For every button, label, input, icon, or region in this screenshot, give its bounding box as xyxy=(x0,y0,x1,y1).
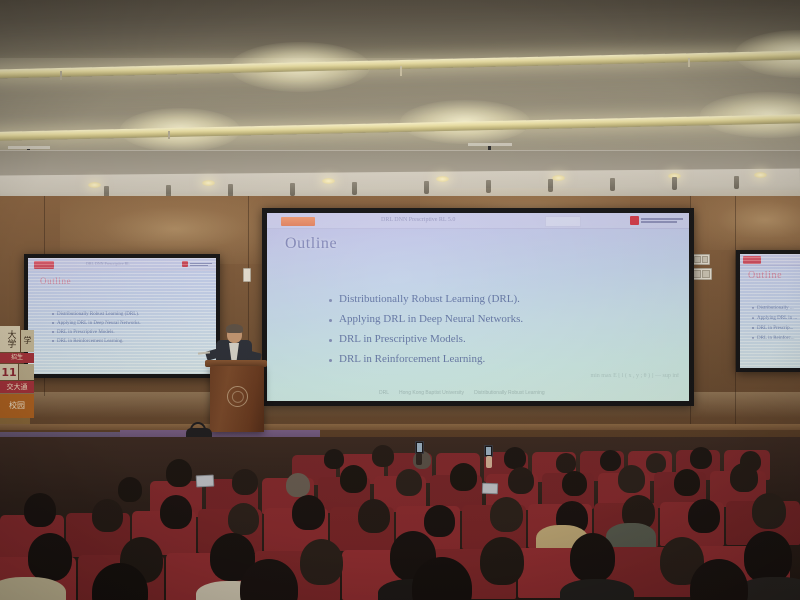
attendee-head xyxy=(300,539,343,585)
attendee-head xyxy=(600,450,621,471)
bullet-dot xyxy=(52,313,54,315)
main-slide-header-box xyxy=(545,216,581,227)
left-bullet-label: Distributionally Robust Learning (DRL). xyxy=(57,312,139,317)
right-bullet-label: Distributionally ... xyxy=(757,306,794,311)
attendee-head xyxy=(480,537,524,585)
main-slide-logo xyxy=(630,216,683,225)
main-projection-screen[interactable]: DRL DNN Prescriptive RL 5.0 Outline Dist… xyxy=(262,208,694,406)
attendee-head xyxy=(690,447,712,469)
tracklight xyxy=(734,176,739,189)
attendee-head xyxy=(508,467,534,494)
left-slide-title: Outline xyxy=(40,276,71,286)
main-bullet-label: DRL in Reinforcement Learning. xyxy=(339,353,485,365)
tracklight xyxy=(424,181,429,194)
footer-item: DRL xyxy=(379,390,389,396)
bullet-dot xyxy=(52,322,54,324)
right-projection-screen[interactable]: Outline Distributionally ... Applying DR… xyxy=(736,250,800,372)
attendee-head xyxy=(160,495,192,529)
tracklight xyxy=(352,182,357,195)
attendee-head xyxy=(752,493,786,529)
bullet-dot xyxy=(752,317,754,319)
left-bullet-label: DRL in Reinforcement Learning. xyxy=(57,339,123,344)
right-bullet-label: Applying DRL in ... xyxy=(757,316,797,321)
bullet-dot xyxy=(329,339,332,342)
light-stem xyxy=(60,71,62,80)
right-bullet-label: DRL in Reinforc... xyxy=(757,336,794,341)
wall-poster-6: 交大通 xyxy=(0,381,34,393)
wall-switch-plate-upper[interactable] xyxy=(692,254,710,265)
wall-poster-1: 大学 xyxy=(0,326,20,352)
ceiling-light-strip-2 xyxy=(0,114,800,141)
footer-item: Hong Kong Baptist University xyxy=(399,390,464,396)
attendee-shoulders xyxy=(560,579,634,600)
attendee-head xyxy=(396,469,422,496)
attendee-head xyxy=(744,531,792,583)
podium-crest-icon xyxy=(227,386,248,407)
attendee-head xyxy=(688,499,720,533)
main-slide-bullets: Distributionally Robust Learning (DRL). … xyxy=(329,293,523,365)
wall-poster-5 xyxy=(19,364,34,380)
wall-poster-2: 学 xyxy=(21,330,34,352)
main-slide-footer: DRL Hong Kong Baptist University Distrib… xyxy=(379,390,545,396)
left-slide-bullets: Distributionally Robust Learning (DRL). … xyxy=(52,312,141,344)
footer-item: Distributionally Robust Learning xyxy=(474,390,545,396)
tracklight xyxy=(548,179,553,192)
attendee-head xyxy=(340,465,367,493)
attendee-head xyxy=(286,473,310,497)
attendee-head xyxy=(24,493,56,527)
left-slide-logo xyxy=(182,261,212,267)
attendee-head xyxy=(166,459,192,487)
left-projection-screen[interactable]: DRL DNN Prescriptive RL Outline Distribu… xyxy=(24,254,220,378)
left-slide-tab xyxy=(34,261,54,269)
wall-light-reflection xyxy=(690,190,800,250)
main-bullet-label: Distributionally Robust Learning (DRL). xyxy=(339,293,520,305)
bullet-dot xyxy=(329,319,332,322)
main-slide-header-text: DRL DNN Prescriptive RL 5.0 xyxy=(381,217,531,223)
audience-area xyxy=(0,437,800,600)
bullet-dot xyxy=(52,340,54,342)
main-slide-equation: min max E [ l ( x , y ; θ ) ] — sup inf xyxy=(509,373,679,379)
wall-poster-4: 11 xyxy=(0,364,18,380)
attendee-raised-arm xyxy=(486,456,492,468)
attendee-head xyxy=(646,453,666,473)
left-bullet-label: Applying DRL in Deep Neural Networks. xyxy=(57,321,141,326)
wall-outlet[interactable] xyxy=(243,268,251,282)
bullet-dot xyxy=(752,327,754,329)
main-bullet-label: Applying DRL in Deep Neural Networks. xyxy=(339,313,523,325)
attendee-head xyxy=(450,463,477,491)
tracklight xyxy=(672,177,677,190)
attendee-head xyxy=(92,499,123,532)
main-slide-tab xyxy=(281,217,315,226)
downlight xyxy=(436,176,449,182)
right-slide-bullets: Distributionally ... Applying DRL in ...… xyxy=(752,306,797,341)
light-stem xyxy=(400,66,402,76)
attendee-head xyxy=(324,449,344,469)
attendee-head xyxy=(730,463,758,492)
attendee-raised-arm xyxy=(416,453,422,465)
attendee-head xyxy=(562,471,587,496)
attendee-head xyxy=(424,505,455,537)
main-bullet-label: DRL in Prescriptive Models. xyxy=(339,333,466,345)
attendee-head xyxy=(292,495,325,530)
tracklight xyxy=(610,178,615,191)
attendee-head xyxy=(490,497,523,532)
lecture-hall-photo: DRL DNN Prescriptive RL Outline Distribu… xyxy=(0,0,800,600)
attendee-laptop xyxy=(196,475,215,488)
wall-poster-3: 招生 xyxy=(0,353,34,363)
main-slide-title: Outline xyxy=(285,235,337,253)
attendee-head xyxy=(372,445,394,467)
left-bullet-label: DRL in Prescriptive Models. xyxy=(57,330,115,335)
attendee-head xyxy=(556,453,576,473)
light-stem xyxy=(168,131,170,139)
downlight xyxy=(88,182,101,188)
left-slide-header-text: DRL DNN Prescriptive RL xyxy=(86,261,164,266)
right-slide-tab xyxy=(743,256,761,264)
presenter-hair xyxy=(226,324,243,333)
attendee-head xyxy=(504,447,526,469)
attendee-head xyxy=(618,465,645,493)
bullet-dot xyxy=(752,337,754,339)
attendee-head xyxy=(118,477,142,502)
light-stem xyxy=(688,58,690,67)
attendee-head xyxy=(570,533,615,582)
bullet-dot xyxy=(752,307,754,309)
downlight xyxy=(322,178,335,184)
right-slide-title: Outline xyxy=(748,270,782,281)
right-bullet-label: DRL in Prescrip... xyxy=(757,326,793,331)
attendee-head xyxy=(232,469,258,495)
main-slide: DRL DNN Prescriptive RL 5.0 Outline Dist… xyxy=(267,213,689,401)
ceiling-dark-band xyxy=(0,0,800,58)
bullet-dot xyxy=(329,299,332,302)
attendee-laptop xyxy=(482,483,498,495)
downlight xyxy=(552,175,565,181)
ceiling xyxy=(0,0,800,200)
wall-poster-7: 校园 xyxy=(0,394,34,418)
downlight xyxy=(202,180,215,186)
left-slide: DRL DNN Prescriptive RL Outline Distribu… xyxy=(28,258,216,374)
tracklight xyxy=(486,180,491,193)
bullet-dot xyxy=(329,359,332,362)
right-slide: Outline Distributionally ... Applying DR… xyxy=(740,254,800,368)
downlight xyxy=(754,172,767,178)
bullet-dot xyxy=(52,331,54,333)
attendee-head xyxy=(674,469,700,496)
tracklight xyxy=(290,183,295,196)
attendee-head xyxy=(228,503,259,535)
attendee-head xyxy=(358,499,390,533)
attendee-head xyxy=(28,533,72,581)
